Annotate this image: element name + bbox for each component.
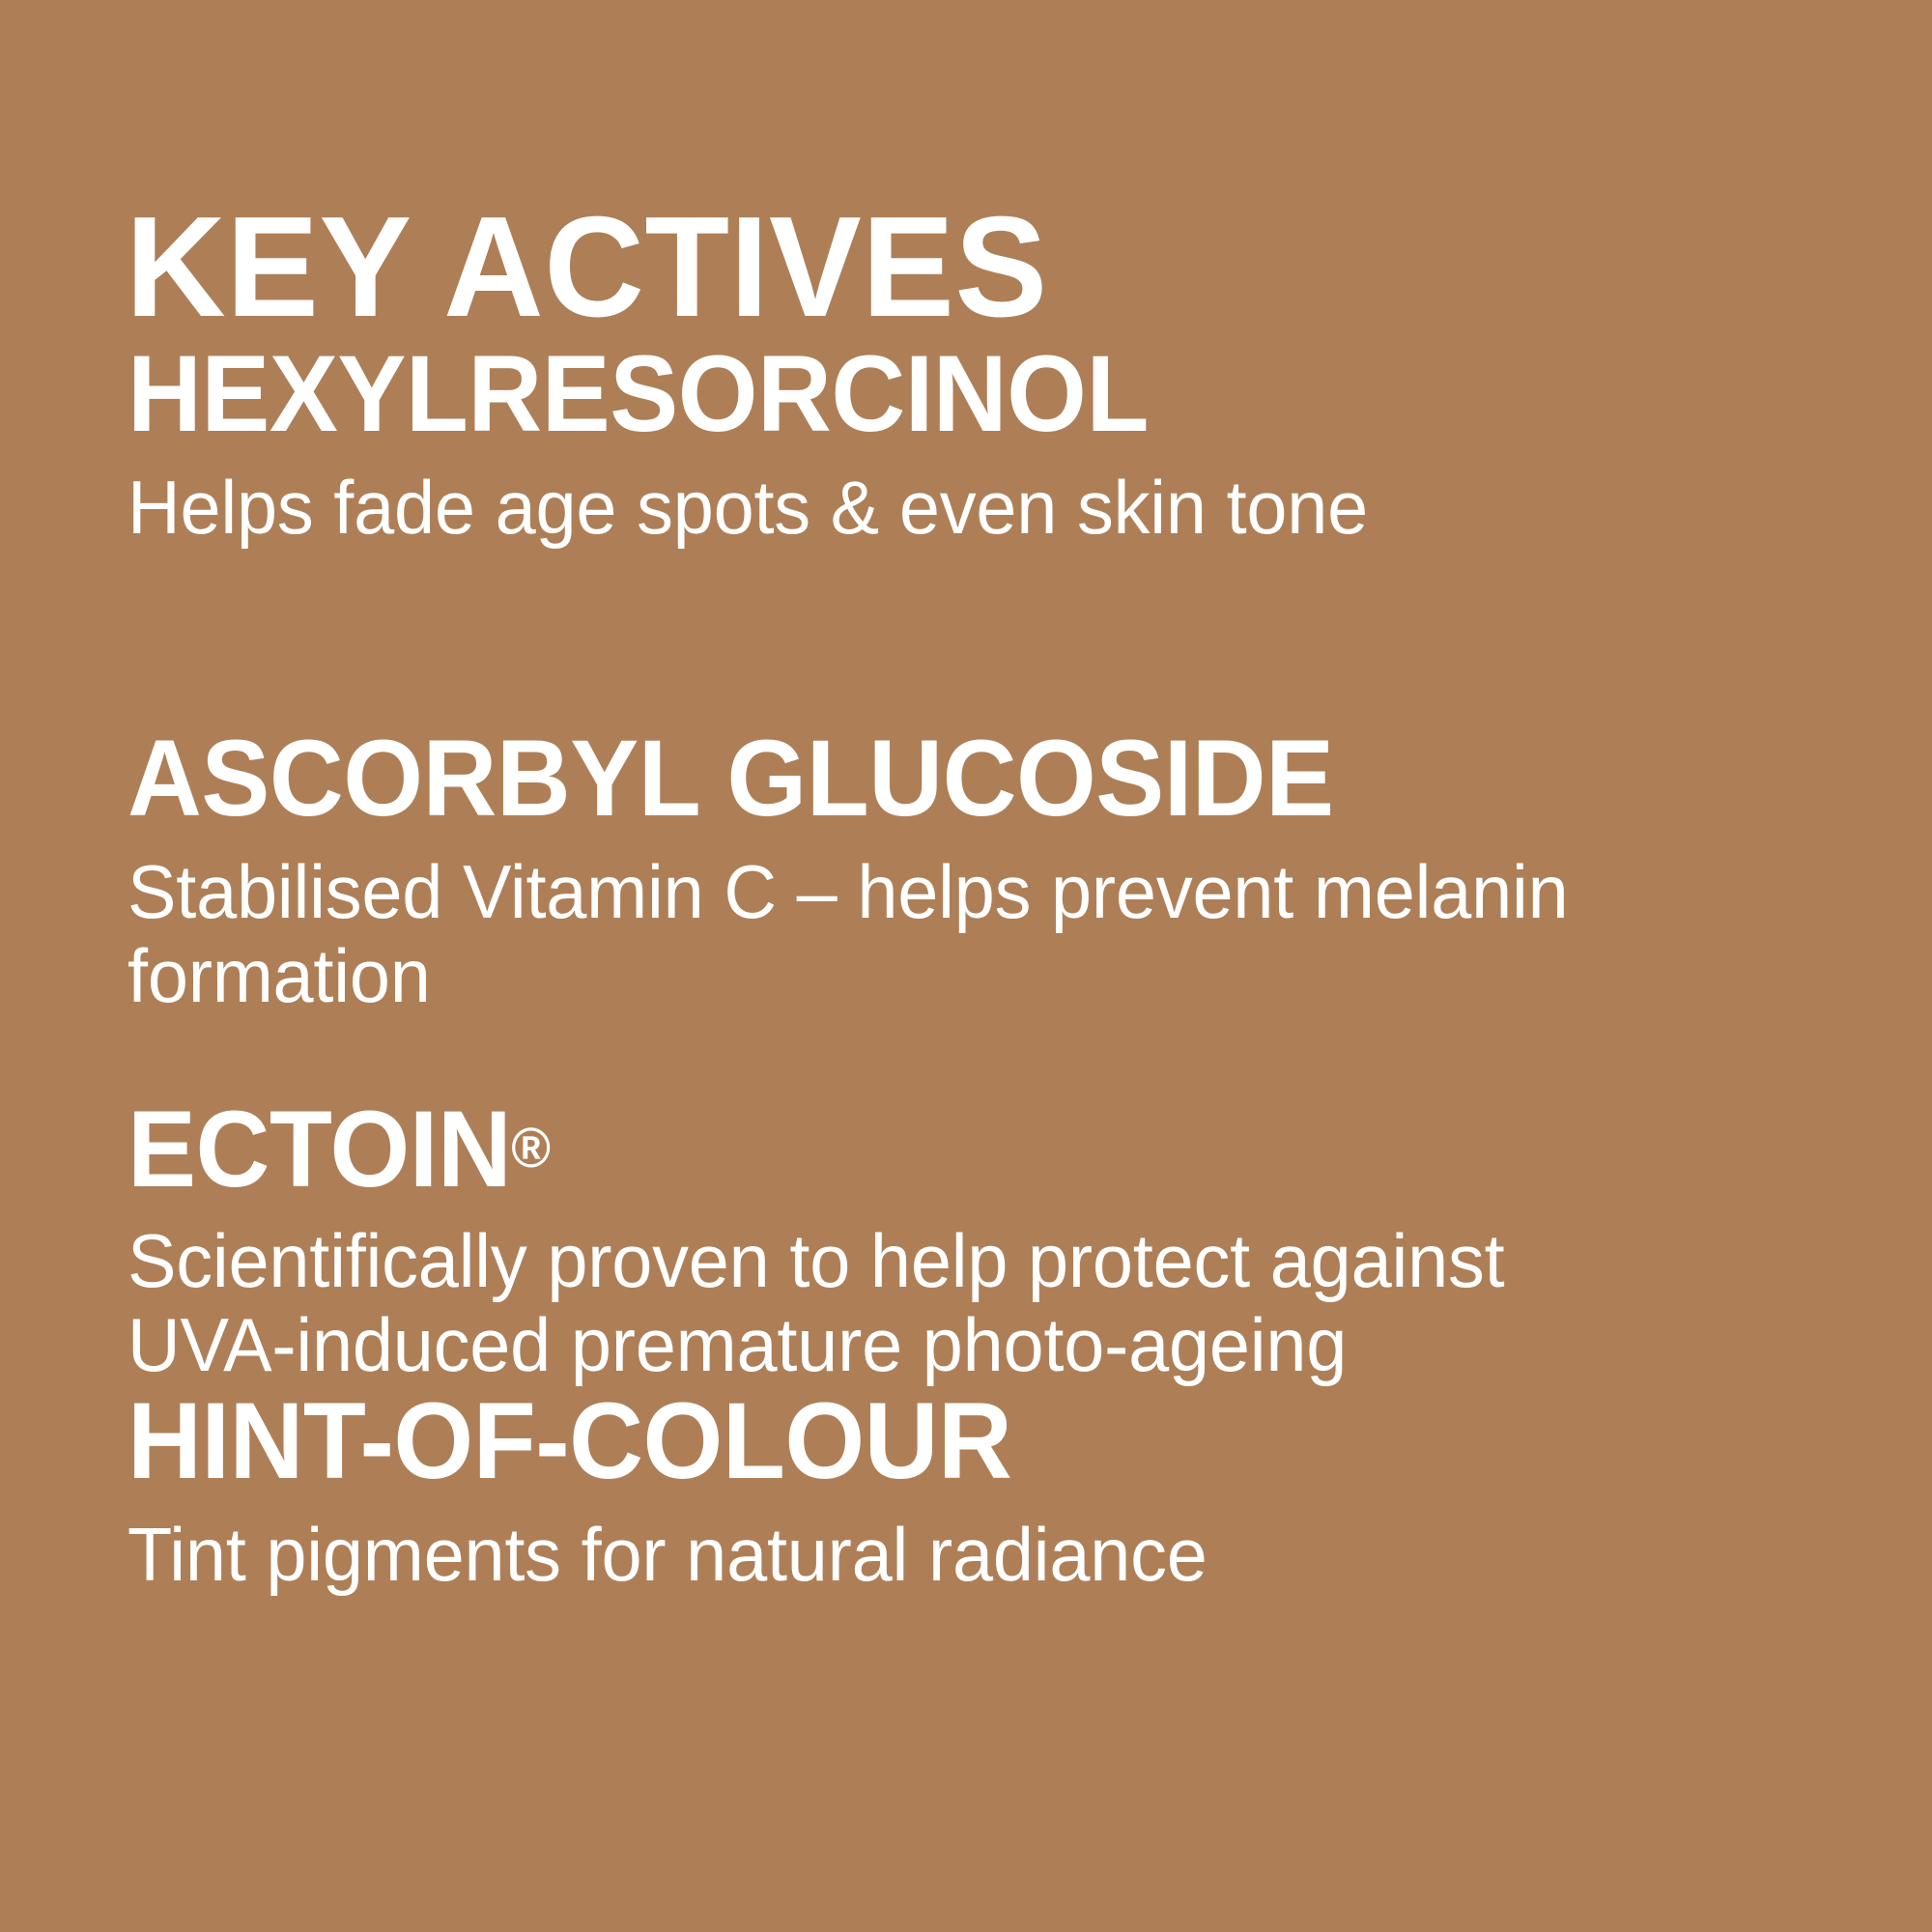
active-ingredient-description: Stabilised Vitamin C – helps prevent mel… <box>128 850 1627 1019</box>
active-ingredient-description: Helps fade age spots & even skin tone <box>128 466 1627 550</box>
active-ingredient-name: HEXYLRESORCINOL <box>128 340 1706 448</box>
page-title: KEY ACTIVES <box>126 196 1048 339</box>
active-ingredient-item: ASCORBYL GLUCOSIDE Stabilised Vitamin C … <box>128 724 1789 1019</box>
active-ingredient-name: HINT-OF-COLOUR <box>128 1387 1706 1495</box>
active-ingredient-item: ECTOIN® Scientifically proven to help pr… <box>128 1095 1789 1388</box>
active-ingredient-name: ECTOIN® <box>128 1095 1706 1204</box>
key-actives-panel: KEY ACTIVES HEXYLRESORCINOL Helps fade a… <box>0 0 1932 1932</box>
active-ingredient-name: ASCORBYL GLUCOSIDE <box>128 724 1706 833</box>
registered-trademark-icon: ® <box>511 1117 551 1179</box>
active-ingredient-item: HEXYLRESORCINOL Helps fade age spots & e… <box>128 340 1789 550</box>
active-ingredient-description: Scientifically proven to help protect ag… <box>128 1219 1627 1388</box>
active-ingredient-name-text: ECTOIN <box>128 1089 511 1209</box>
active-ingredient-item: HINT-OF-COLOUR Tint pigments for natural… <box>128 1387 1789 1597</box>
active-ingredient-description: Tint pigments for natural radiance <box>128 1513 1627 1597</box>
